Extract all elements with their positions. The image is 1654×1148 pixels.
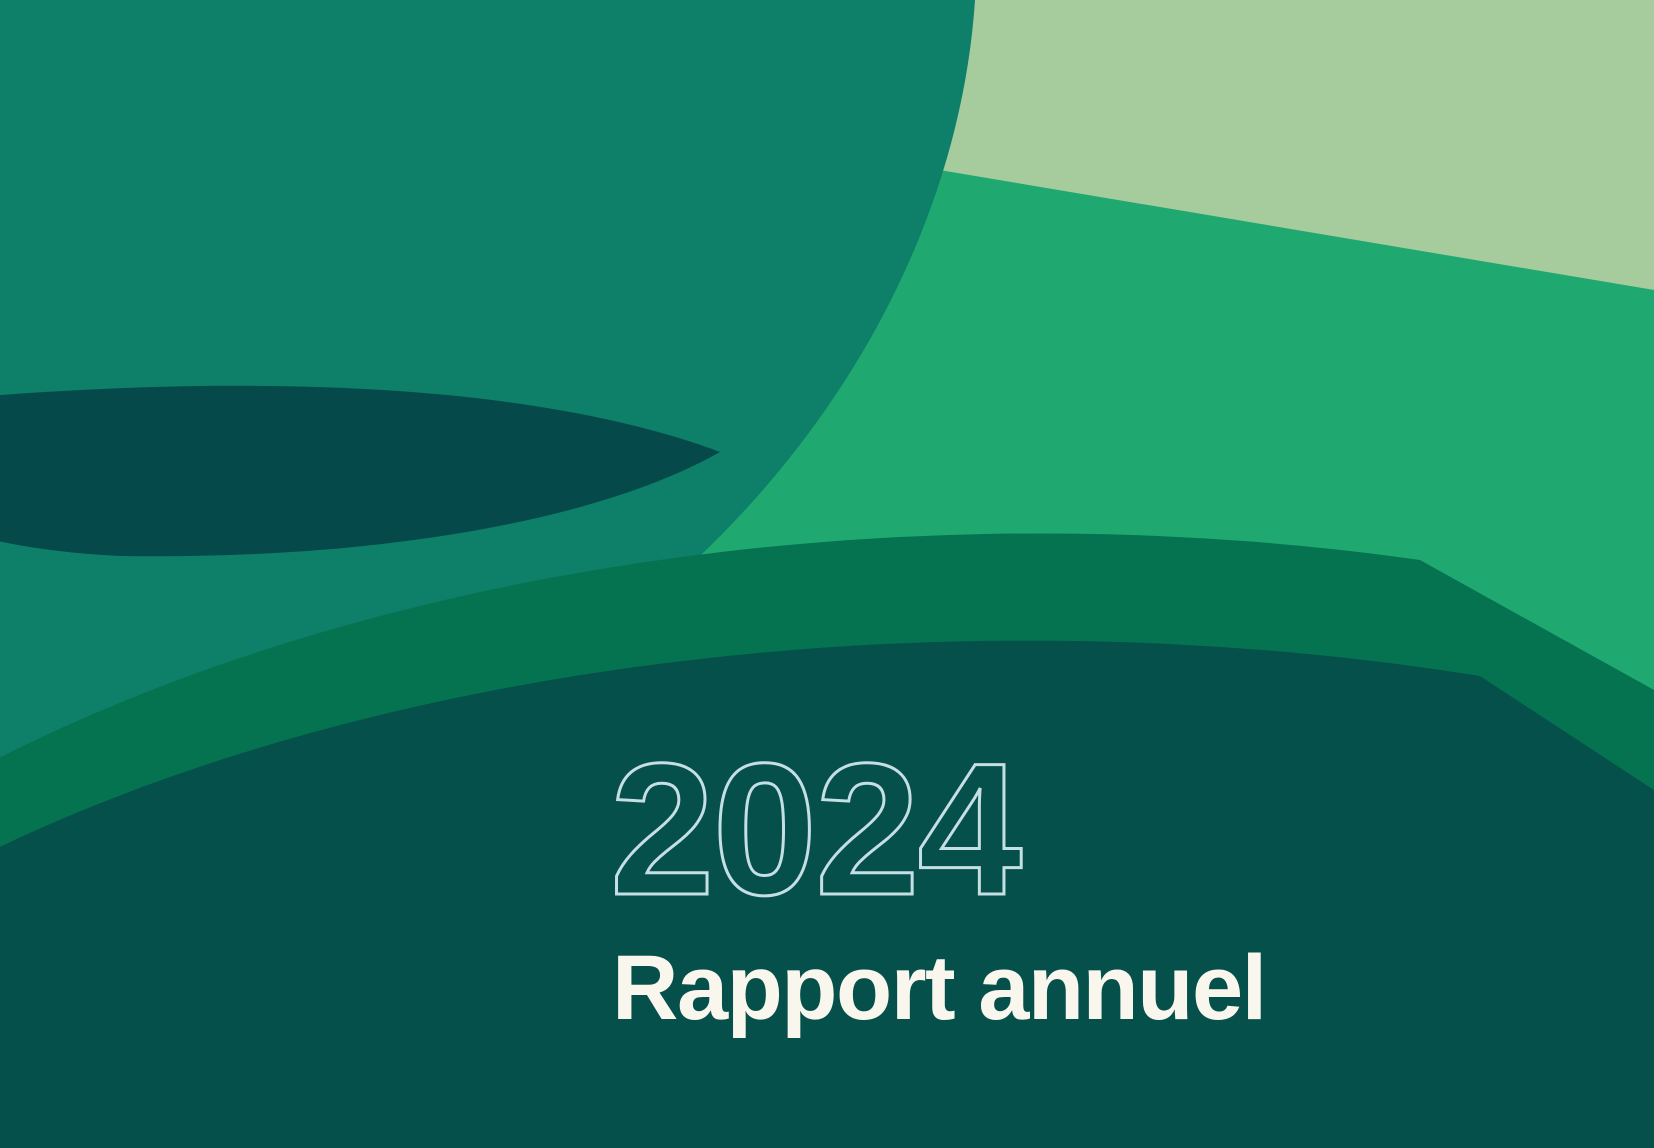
abstract-background-artwork — [0, 0, 1654, 1148]
annual-report-cover: 2024 Rapport annuel — [0, 0, 1654, 1148]
